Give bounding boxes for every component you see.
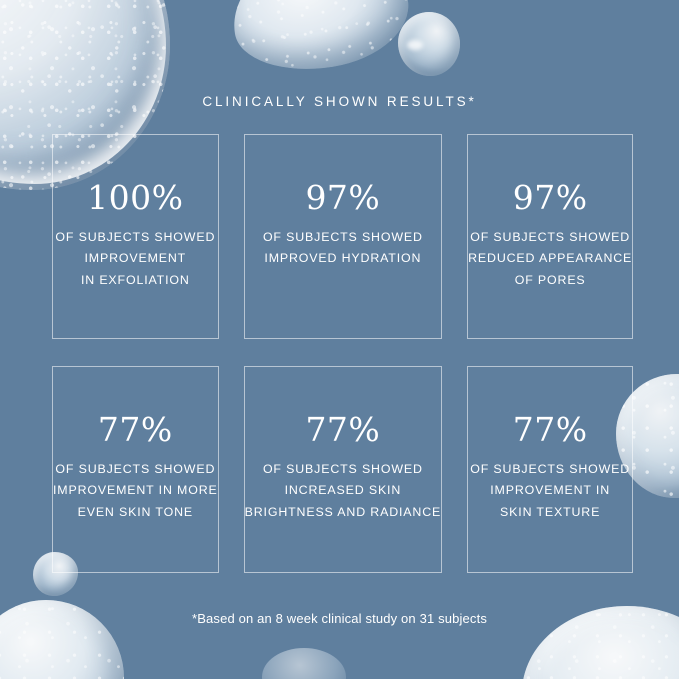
- stat-line: OF PORES: [468, 270, 632, 291]
- clinical-results-infographic: CLINICALLY SHOWN RESULTS* 100% OF SUBJEC…: [0, 0, 679, 679]
- stat-line: OF SUBJECTS SHOWED: [55, 227, 215, 248]
- stat-line: IMPROVEMENT IN MORE: [53, 480, 218, 501]
- stats-grid: 100% OF SUBJECTS SHOWED IMPROVEMENT IN E…: [52, 134, 627, 573]
- stat-line: SKIN TEXTURE: [470, 502, 630, 523]
- page-title: CLINICALLY SHOWN RESULTS*: [0, 94, 679, 109]
- stat-description: OF SUBJECTS SHOWED REDUCED APPEARANCE OF…: [468, 227, 632, 291]
- stat-value: 77%: [305, 413, 380, 446]
- stat-card: 77% OF SUBJECTS SHOWED IMPROVEMENT IN SK…: [467, 366, 633, 573]
- stat-line: OF SUBJECTS SHOWED: [468, 227, 632, 248]
- stat-card: 97% OF SUBJECTS SHOWED REDUCED APPEARANC…: [467, 134, 633, 339]
- stat-line: BRIGHTNESS AND RADIANCE: [245, 502, 442, 523]
- stat-line: IMPROVED HYDRATION: [263, 248, 423, 269]
- stat-line: IMPROVEMENT: [55, 248, 215, 269]
- stat-description: OF SUBJECTS SHOWED IMPROVEMENT IN EXFOLI…: [55, 227, 215, 291]
- stat-line: REDUCED APPEARANCE: [468, 248, 632, 269]
- stat-description: OF SUBJECTS SHOWED IMPROVEMENT IN SKIN T…: [470, 459, 630, 523]
- stat-value: 97%: [513, 181, 588, 214]
- stat-description: OF SUBJECTS SHOWED IMPROVEMENT IN MORE E…: [53, 459, 218, 523]
- stat-value: 77%: [98, 413, 173, 446]
- content-layer: CLINICALLY SHOWN RESULTS* 100% OF SUBJEC…: [0, 0, 679, 679]
- stat-value: 100%: [87, 181, 183, 214]
- stat-line: OF SUBJECTS SHOWED: [245, 459, 442, 480]
- stat-line: EVEN SKIN TONE: [53, 502, 218, 523]
- stat-line: OF SUBJECTS SHOWED: [53, 459, 218, 480]
- stat-line: INCREASED SKIN: [245, 480, 442, 501]
- stat-card: 77% OF SUBJECTS SHOWED IMPROVEMENT IN MO…: [52, 366, 219, 573]
- stat-value: 77%: [513, 413, 588, 446]
- footnote: *Based on an 8 week clinical study on 31…: [0, 611, 679, 626]
- stat-line: OF SUBJECTS SHOWED: [263, 227, 423, 248]
- stat-line: OF SUBJECTS SHOWED: [470, 459, 630, 480]
- stat-description: OF SUBJECTS SHOWED INCREASED SKIN BRIGHT…: [245, 459, 442, 523]
- stat-line: IN EXFOLIATION: [55, 270, 215, 291]
- stat-card: 97% OF SUBJECTS SHOWED IMPROVED HYDRATIO…: [244, 134, 443, 339]
- stat-card: 77% OF SUBJECTS SHOWED INCREASED SKIN BR…: [244, 366, 443, 573]
- stat-value: 97%: [305, 181, 380, 214]
- stat-description: OF SUBJECTS SHOWED IMPROVED HYDRATION: [263, 227, 423, 270]
- stat-card: 100% OF SUBJECTS SHOWED IMPROVEMENT IN E…: [52, 134, 219, 339]
- stat-line: IMPROVEMENT IN: [470, 480, 630, 501]
